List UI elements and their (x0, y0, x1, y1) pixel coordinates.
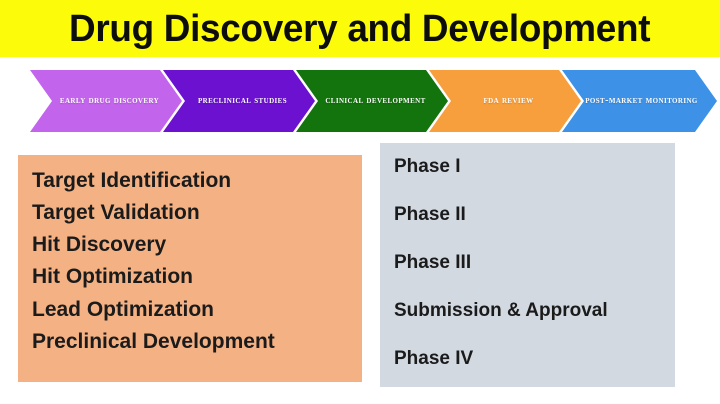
list-item: Phase III (394, 253, 675, 272)
process-stage-label: Clinical Development (311, 95, 435, 108)
list-item: Phase II (394, 205, 675, 224)
process-flow-diagram: Early Drug DiscoveryPreclinical StudiesC… (30, 70, 710, 132)
process-stage-label: FDA Review (469, 95, 543, 108)
list-item: Target Identification (32, 165, 362, 197)
list-item: Hit Optimization (32, 261, 362, 293)
process-stage-label: Post-market Monitoring (571, 95, 708, 108)
clinical-phases-panel: Phase IPhase IIPhase IIISubmission & App… (380, 143, 675, 387)
title-banner: Drug Discovery and Development (0, 0, 720, 57)
list-item: Phase IV (394, 349, 675, 368)
discovery-phases-panel: Target IdentificationTarget ValidationHi… (18, 155, 362, 382)
process-stage-post-market-monitoring[interactable]: Post-market Monitoring (562, 70, 717, 132)
process-stage-clinical-development[interactable]: Clinical Development (296, 70, 451, 132)
process-stage-early-drug-discovery[interactable]: Early Drug Discovery (30, 70, 185, 132)
page-title: Drug Discovery and Development (69, 10, 650, 48)
list-item: Lead Optimization (32, 294, 362, 326)
process-stage-label: Early Drug Discovery (46, 95, 169, 108)
process-stage-preclinical-studies[interactable]: Preclinical Studies (163, 70, 318, 132)
list-item: Submission & Approval (394, 301, 675, 320)
process-stage-fda-review[interactable]: FDA Review (429, 70, 584, 132)
list-item: Phase I (394, 157, 675, 176)
list-item: Target Validation (32, 197, 362, 229)
process-stage-label: Preclinical Studies (184, 95, 297, 108)
list-item: Preclinical Development (32, 326, 362, 358)
list-item: Hit Discovery (32, 229, 362, 261)
